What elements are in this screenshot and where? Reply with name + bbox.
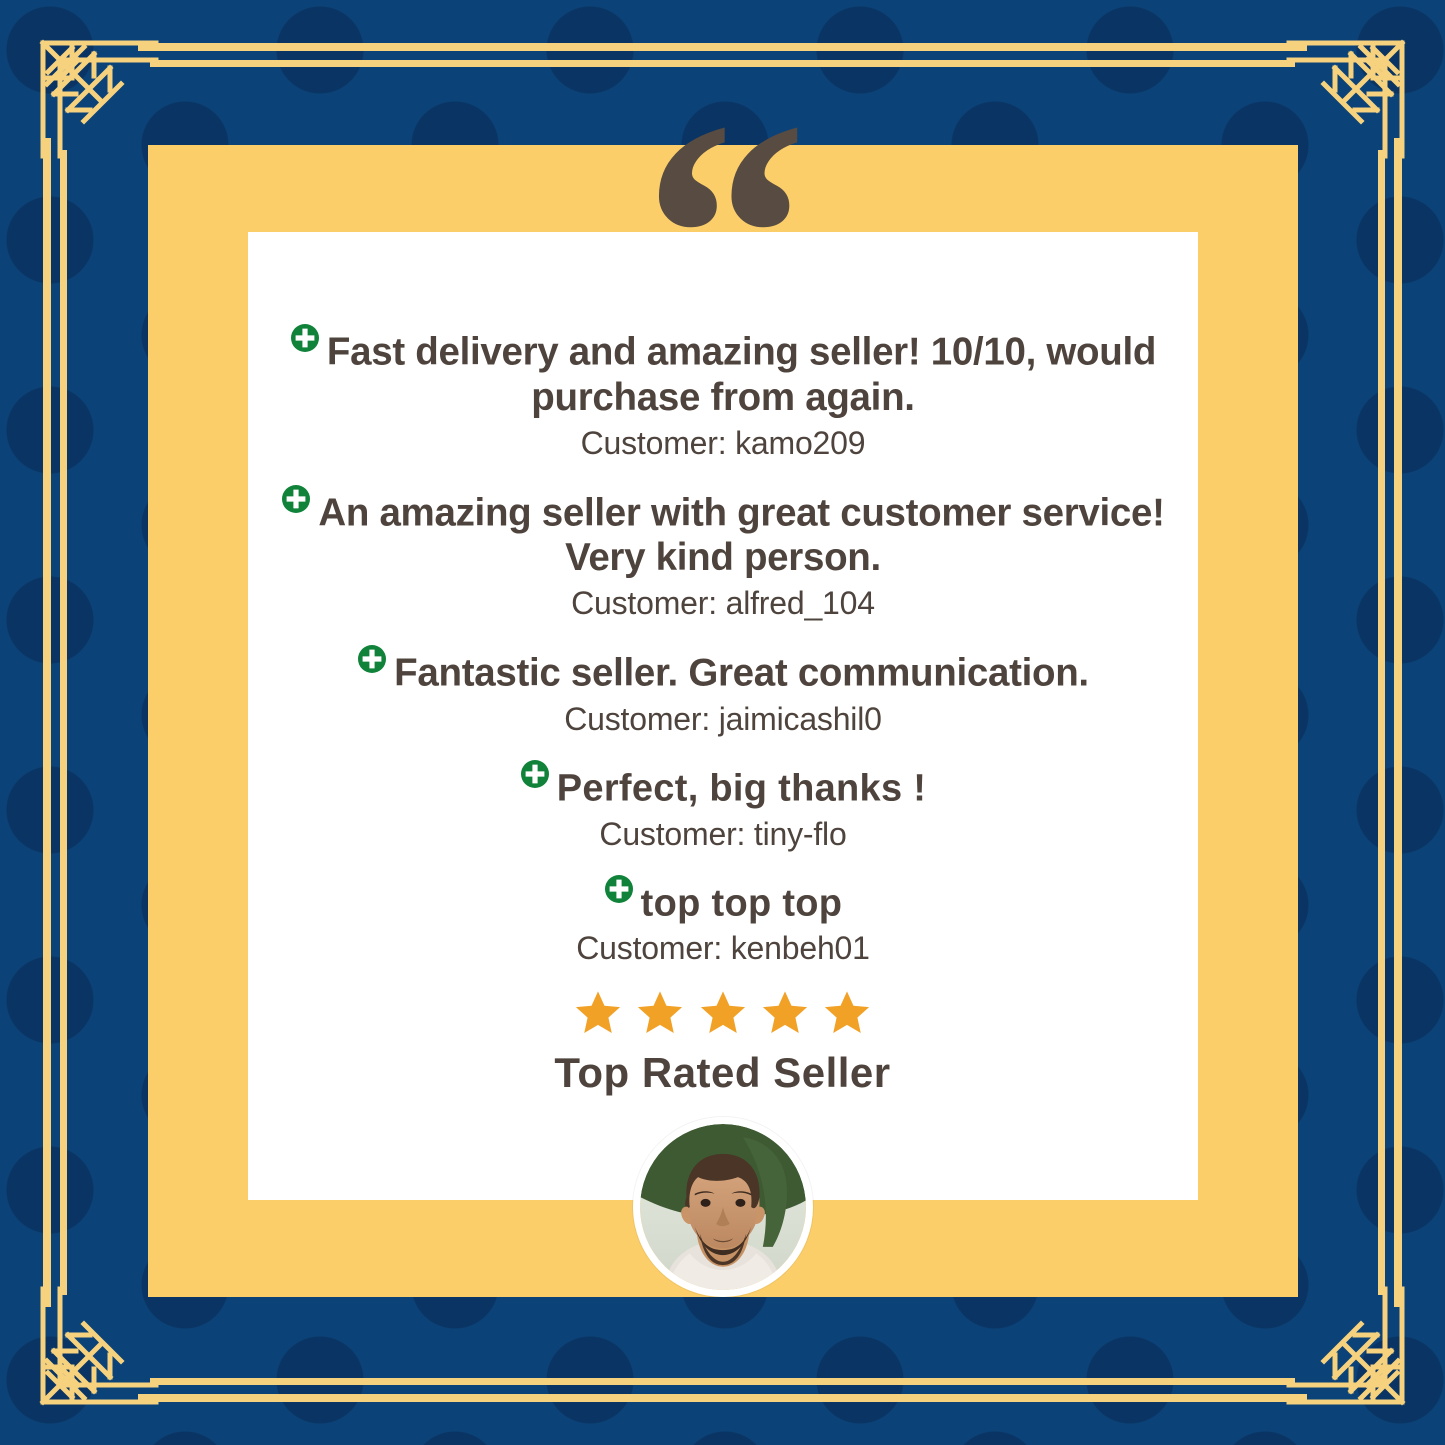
testimonial-item: top top top Customer: kenbeh01 bbox=[248, 870, 1198, 968]
testimonial-customer: Customer: alfred_104 bbox=[248, 585, 1198, 622]
testimonial-text-row: Fast delivery and amazing seller! 10/10,… bbox=[248, 318, 1198, 420]
testimonial-text: An amazing seller with great customer se… bbox=[318, 491, 1164, 579]
star-icon-4 bbox=[759, 988, 811, 1043]
avatar bbox=[633, 1117, 813, 1297]
positive-feedback-icon bbox=[290, 318, 320, 363]
star-icon-1 bbox=[572, 988, 624, 1043]
testimonial-text: Fantastic seller. Great communication. bbox=[394, 652, 1089, 695]
star-rating bbox=[0, 988, 1445, 1043]
positive-feedback-icon bbox=[520, 755, 550, 799]
top-rated-seller-label: Top Rated Seller bbox=[0, 1049, 1445, 1097]
positive-feedback-icon bbox=[281, 479, 311, 524]
testimonial-item: Fantastic seller. Great communication. C… bbox=[248, 639, 1198, 738]
testimonial-customer: Customer: jaimicashil0 bbox=[248, 701, 1198, 738]
testimonial-text-row: An amazing seller with great customer se… bbox=[248, 479, 1198, 581]
testimonial-text: Perfect, big thanks ! bbox=[557, 767, 927, 809]
testimonial-item: An amazing seller with great customer se… bbox=[248, 479, 1198, 623]
testimonial-customer: Customer: tiny-flo bbox=[248, 816, 1198, 853]
star-icon-5 bbox=[821, 988, 873, 1043]
testimonial-text: Fast delivery and amazing seller! 10/10,… bbox=[327, 331, 1156, 419]
testimonial-customer: Customer: kamo209 bbox=[248, 425, 1198, 462]
testimonial-item: Perfect, big thanks ! Customer: tiny-flo bbox=[248, 755, 1198, 853]
seller-profile-photo-icon bbox=[640, 1124, 806, 1290]
positive-feedback-icon bbox=[604, 870, 634, 914]
testimonial-item: Fast delivery and amazing seller! 10/10,… bbox=[248, 318, 1198, 462]
testimonial-text: top top top bbox=[641, 882, 843, 924]
testimonial-list: Fast delivery and amazing seller! 10/10,… bbox=[248, 318, 1198, 984]
star-icon-3 bbox=[697, 988, 749, 1043]
positive-feedback-icon bbox=[357, 639, 387, 684]
testimonial-text-row: Fantastic seller. Great communication. bbox=[248, 639, 1198, 696]
testimonial-text-row: top top top bbox=[248, 870, 1198, 926]
testimonial-customer: Customer: kenbeh01 bbox=[248, 930, 1198, 967]
testimonial-text-row: Perfect, big thanks ! bbox=[248, 755, 1198, 811]
star-icon-2 bbox=[634, 988, 686, 1043]
